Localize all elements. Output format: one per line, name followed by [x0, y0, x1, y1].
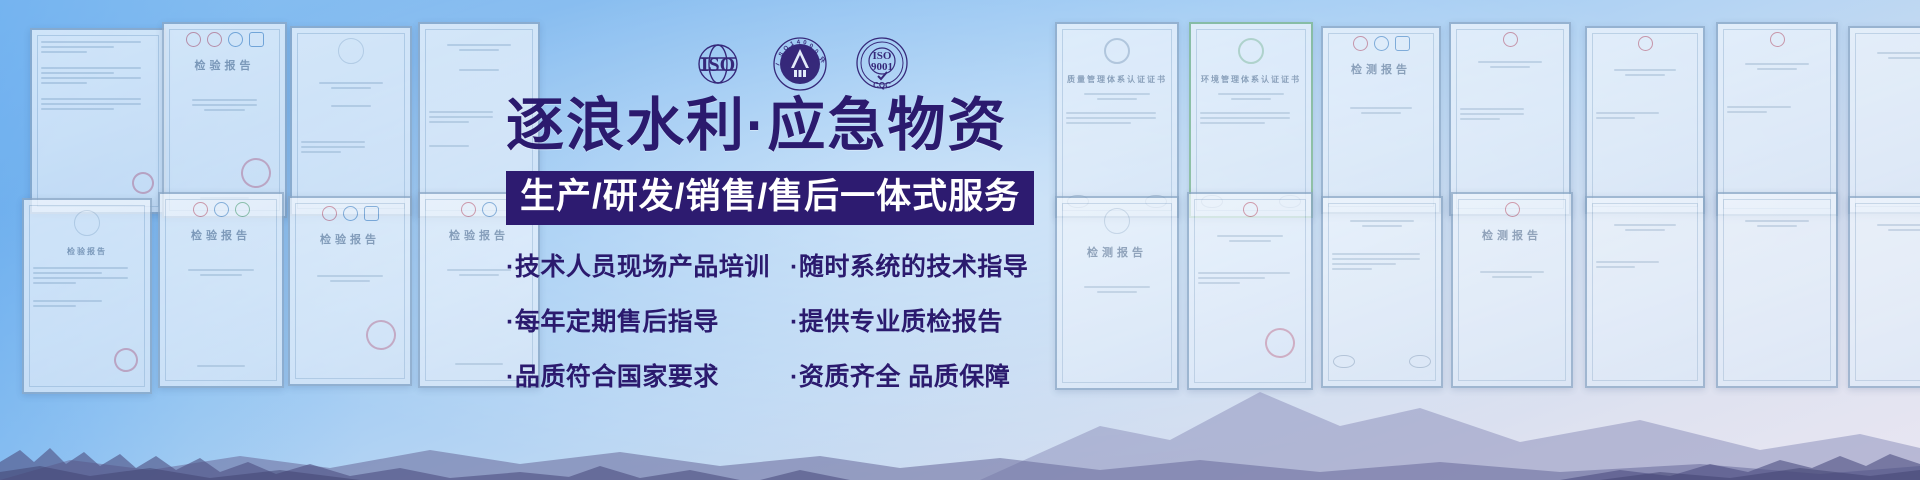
certificate-card — [1716, 22, 1838, 216]
certificate-title: 质量管理体系认证证书 — [1066, 74, 1168, 85]
certificate-card: 检验报告 — [162, 22, 287, 218]
certificate-card: 检验报告 — [158, 192, 284, 388]
banner-headline: 逐浪水利·应急物资 — [506, 96, 1086, 157]
svg-text:1: 1 — [790, 41, 796, 48]
certificate-title: 检验报告 — [299, 231, 401, 247]
certification-badges: ISO I S O 1 4 0 0 0 — [690, 36, 910, 97]
iso-globe-badge: ISO — [690, 38, 746, 95]
certificate-card: 环境管理体系认证证书 — [1189, 22, 1313, 218]
svg-text:CQC: CQC — [873, 81, 891, 90]
certificate-card — [290, 26, 412, 216]
feature-item: ·提供专业质检报告 — [790, 302, 1040, 338]
certificate-card — [1449, 22, 1571, 216]
certificate-card: 检验报告 — [288, 196, 412, 386]
certificate-title: 检测报告 — [1332, 61, 1430, 77]
svg-text:ISO: ISO — [701, 54, 735, 76]
certificate-card — [1585, 196, 1705, 388]
certificate-title: 检验报告 — [33, 246, 141, 257]
certificate-card: 检验报告 — [22, 198, 152, 394]
promo-banner: 检验报告 质量管理体系认证证书 环境管理体系认证证书 — [0, 0, 1920, 480]
certificate-card — [30, 28, 166, 214]
certificate-card — [1848, 26, 1920, 214]
feature-list: ·技术人员现场产品培训 ·随时系统的技术指导 ·每年定期售后指导 ·提供专业质检… — [506, 247, 1086, 393]
banner-content: 逐浪水利·应急物资 生产/研发/销售/售后一体式服务 ·技术人员现场产品培训 ·… — [506, 96, 1086, 393]
feature-item: ·随时系统的技术指导 — [790, 247, 1040, 283]
certificate-title: 检验报告 — [169, 227, 273, 243]
certificate-card: 检测报告 — [1321, 26, 1441, 214]
iso9001-cqc-badge: ISO 9001 CQC — [854, 36, 910, 97]
feature-item: ·品质符合国家要求 — [506, 357, 782, 393]
certificate-logo-row — [173, 32, 276, 47]
certificate-card — [1716, 192, 1838, 388]
feature-item: ·每年定期售后指导 — [506, 302, 782, 338]
certificate-card — [1585, 26, 1705, 214]
certificate-card — [1321, 196, 1443, 388]
iso14000-seal-badge: I S O 1 4 0 0 0 环 — [772, 36, 828, 97]
svg-text:9001: 9001 — [871, 61, 893, 73]
certificate-card: 检测报告 — [1451, 192, 1573, 388]
certificate-title: 检测报告 — [1462, 227, 1562, 243]
certificate-title: 环境管理体系认证证书 — [1200, 74, 1302, 85]
certificate-card — [1848, 196, 1920, 388]
certificate-card — [1187, 192, 1313, 390]
feature-item: ·技术人员现场产品培训 — [506, 247, 782, 283]
certificate-title: 检验报告 — [173, 57, 276, 73]
feature-item: ·资质齐全 品质保障 — [790, 357, 1040, 393]
banner-subtitle-bar: 生产/研发/销售/售后一体式服务 — [506, 171, 1034, 225]
